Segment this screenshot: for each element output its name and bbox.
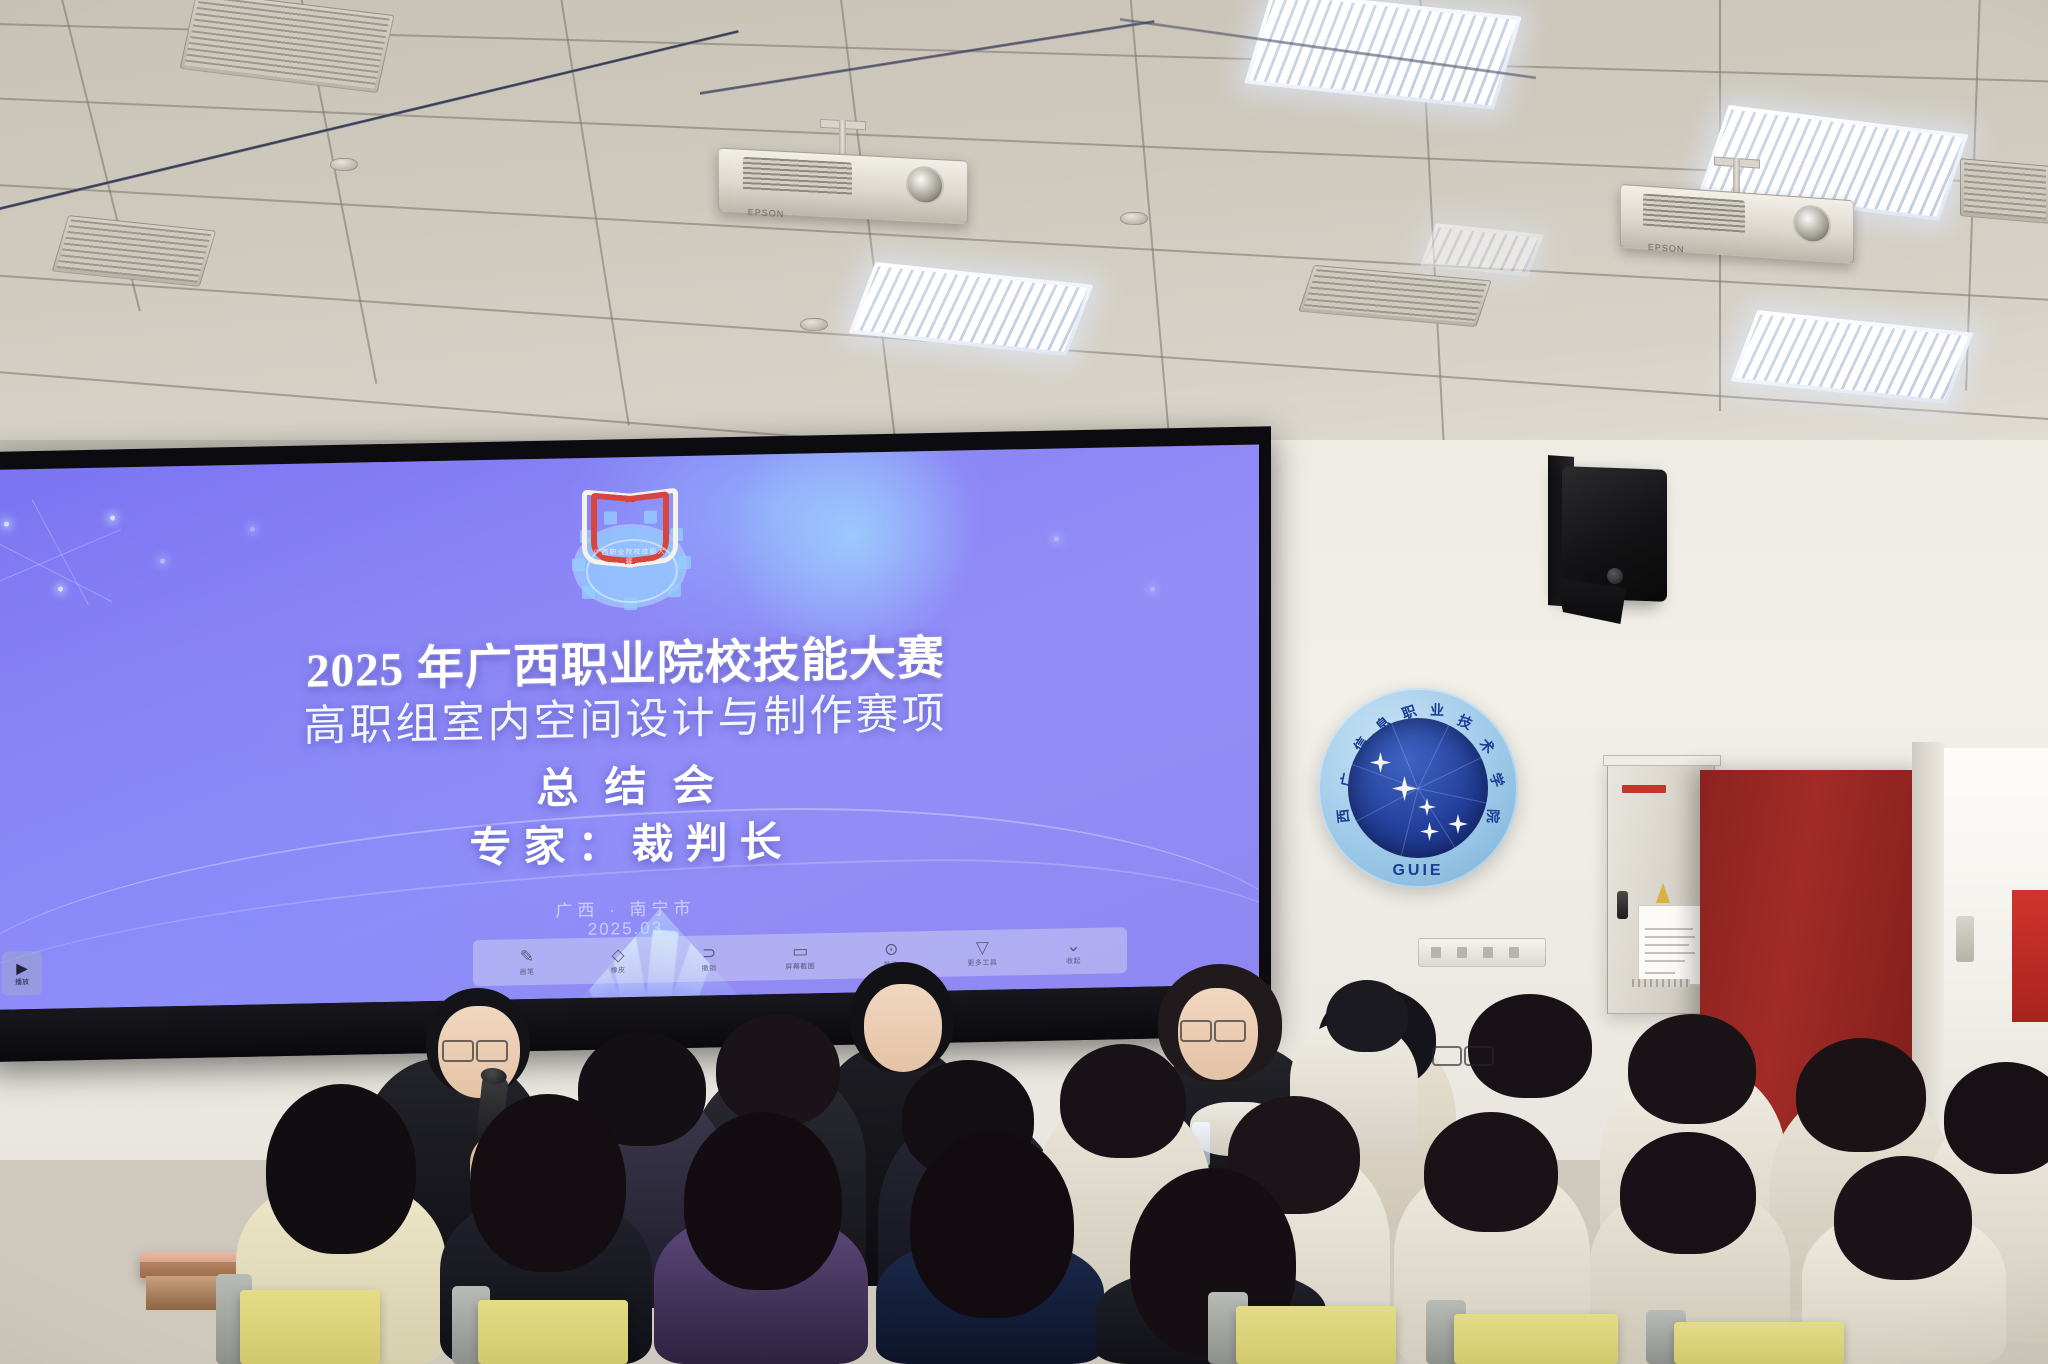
ac-ceiling-vent <box>179 0 394 93</box>
ceiling-light-panel <box>849 262 1094 356</box>
panel-notice-sheet <box>1638 905 1702 985</box>
collapse-tool[interactable]: ⌄ 收起 <box>1030 936 1117 967</box>
projector-vent-grill <box>743 157 852 197</box>
undo-icon: ⊃ <box>702 944 716 961</box>
slide-particle <box>160 558 165 563</box>
whiteboard-play-button[interactable]: ▶ 播放 <box>2 951 42 996</box>
audience-glasses <box>1432 1046 1462 1066</box>
corridor-fixture <box>1956 916 1974 962</box>
corridor-red-panel <box>2012 890 2048 1022</box>
more-tools[interactable]: ▽ 更多工具 <box>939 938 1026 969</box>
speaker-cone <box>1607 568 1623 585</box>
emblem-star <box>1420 822 1439 841</box>
slide-particle <box>58 586 63 591</box>
ceiling-projector: EPSON <box>1620 150 1852 270</box>
emblem-ring-char: 院 <box>1483 809 1503 824</box>
ceiling-projector: EPSON <box>718 114 966 233</box>
ceiling-light-panel <box>1731 310 1974 404</box>
emblem-star <box>1448 814 1468 834</box>
audience-glasses <box>1464 1046 1494 1066</box>
ceiling-cable <box>700 20 1155 95</box>
panel-hook <box>1656 883 1670 903</box>
emblem-inner-globe <box>1348 718 1488 858</box>
more-tools-label: 更多工具 <box>967 957 997 968</box>
projection-screen[interactable]: 广西职业院校技能大赛 2025 年广西职业院校技能大赛 高职组室内空间设计与制作… <box>0 444 1259 1009</box>
undo-label: 撤销 <box>702 963 717 973</box>
panel-vent <box>1632 979 1690 987</box>
room-photo: EPSON EPSON <box>0 0 2048 1364</box>
institution-wall-emblem: 信 息 职 业 技 术 学 院 西 广 GUIE <box>1318 688 1518 888</box>
emblem-star <box>1370 752 1391 773</box>
slide-particle <box>4 522 9 527</box>
more-tools-icon: ▽ <box>976 938 989 955</box>
projector-brand-label: EPSON <box>748 207 785 219</box>
annotate-icon: ⊙ <box>884 940 898 957</box>
projector-mount-arm <box>839 120 846 156</box>
ac-ceiling-vent <box>1298 265 1492 327</box>
screenshot-label: 屏幕截图 <box>785 961 815 972</box>
panelist-glasses <box>1214 1020 1246 1042</box>
projector-brand-label: EPSON <box>1648 242 1685 255</box>
screenshot-tool[interactable]: ▭ 屏幕截图 <box>757 941 844 972</box>
slide-particle <box>1054 536 1059 541</box>
chevron-down-icon: ⌄ <box>1066 937 1080 954</box>
ac-ceiling-vent <box>1960 158 2048 224</box>
presenter-glasses <box>476 1040 508 1062</box>
smoke-detector <box>1120 212 1148 225</box>
play-icon: ▶ <box>16 959 28 977</box>
play-label: 播放 <box>15 977 29 987</box>
competition-emblem: 广西职业院校技能大赛 <box>566 484 694 611</box>
slide-glow <box>702 444 1002 644</box>
presenter-glasses <box>442 1040 474 1062</box>
electrical-panel[interactable] <box>1607 762 1715 1014</box>
panel-top-cap <box>1603 755 1721 766</box>
pen-label: 画笔 <box>519 966 534 976</box>
ac-ceiling-vent <box>52 215 217 287</box>
emblem-ring-char: 业 <box>1430 700 1445 720</box>
ceiling-light-panel <box>1420 223 1544 277</box>
slide-particle <box>110 515 115 520</box>
pen-icon: ✎ <box>520 947 534 964</box>
suspended-ceiling: EPSON EPSON <box>0 0 2048 470</box>
collapse-label: 收起 <box>1066 956 1081 966</box>
undo-tool[interactable]: ⊃ 撤销 <box>666 943 753 974</box>
emblem-acronym: GUIE <box>1318 862 1518 880</box>
projector-mount-arm <box>1733 158 1740 194</box>
projector-vent-grill <box>1643 194 1745 235</box>
panel-lock-icon[interactable] <box>1617 891 1628 919</box>
eraser-icon: ◇ <box>612 946 625 963</box>
panelist-glasses <box>1180 1020 1212 1042</box>
emblem-ring-char: 西 <box>1332 808 1353 824</box>
slide-particle <box>1150 587 1155 592</box>
eraser-tool[interactable]: ◇ 橡皮 <box>575 945 662 976</box>
wall-power-socket[interactable] <box>1418 938 1546 967</box>
panel-warning-strip <box>1622 785 1666 793</box>
smoke-detector <box>330 158 358 171</box>
projection-screen-bezel: 广西职业院校技能大赛 2025 年广西职业院校技能大赛 高职组室内空间设计与制作… <box>0 426 1271 1062</box>
pen-tool[interactable]: ✎ 画笔 <box>483 947 570 978</box>
eraser-label: 橡皮 <box>611 965 626 975</box>
smoke-detector <box>800 318 828 331</box>
slide-particle <box>250 527 255 532</box>
emblem-arc-text: 广西职业院校技能大赛 <box>592 546 668 592</box>
screenshot-icon: ▭ <box>792 942 808 959</box>
